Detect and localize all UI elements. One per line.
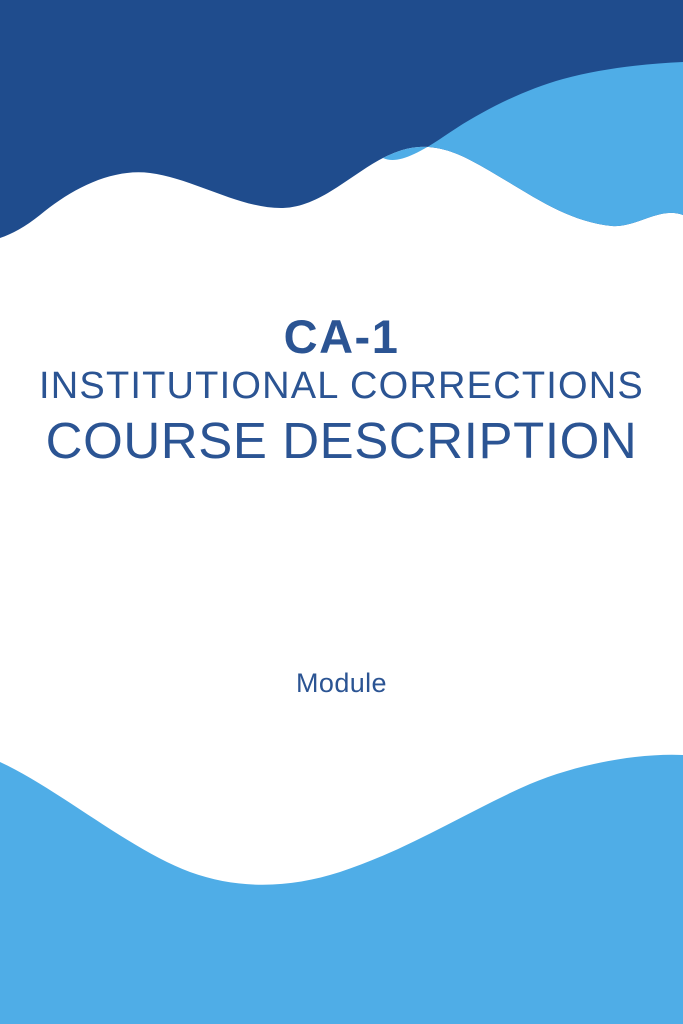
title-slide: CA-1 INSTITUTIONAL CORRECTIONS COURSE DE… (0, 0, 683, 1024)
document-type: COURSE DESCRIPTION (0, 410, 683, 472)
course-code: CA-1 (0, 312, 683, 363)
course-name: INSTITUTIONAL CORRECTIONS (0, 363, 683, 411)
title-block: CA-1 INSTITUTIONAL CORRECTIONS COURSE DE… (0, 312, 683, 472)
subtitle-block: Module (0, 668, 683, 699)
slide-content: CA-1 INSTITUTIONAL CORRECTIONS COURSE DE… (0, 0, 683, 1024)
module-label: Module (0, 668, 683, 699)
